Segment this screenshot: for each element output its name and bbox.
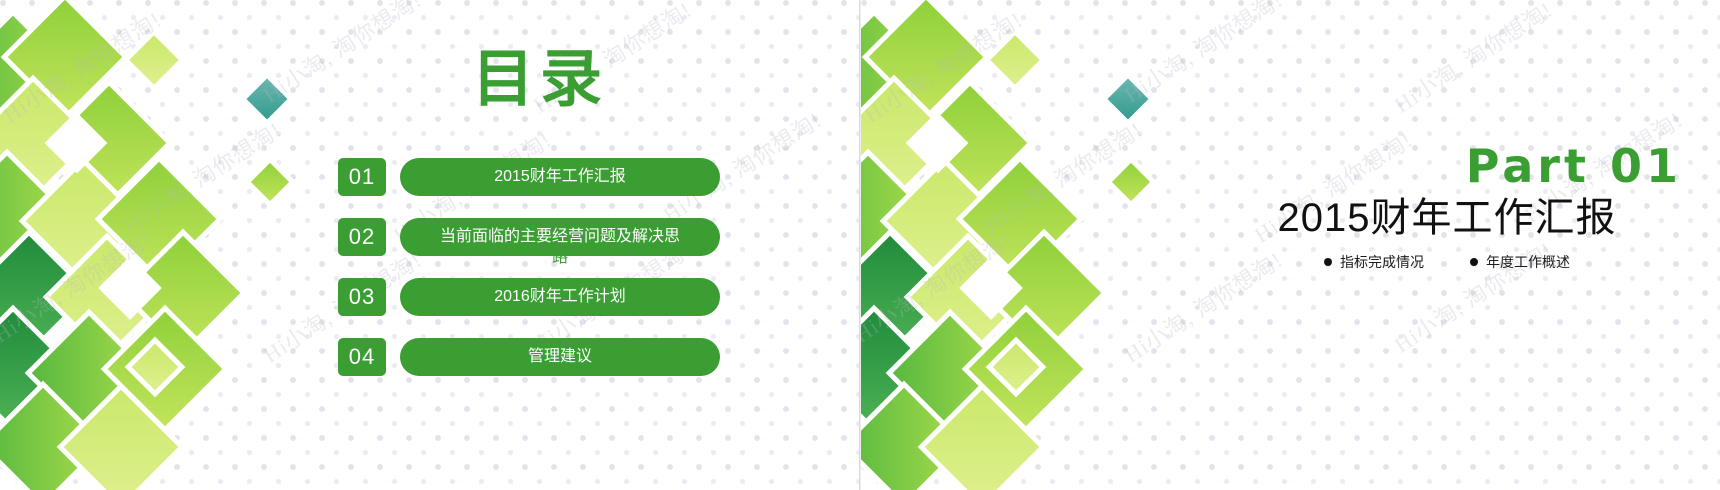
- toc-item-bar[interactable]: 2015财年工作汇报: [400, 158, 720, 196]
- section-bullet-list: 指标完成情况 年度工作概述: [1212, 252, 1682, 272]
- bullet-label: 指标完成情况: [1340, 252, 1424, 272]
- page-title: 目录: [330, 48, 750, 110]
- toc-item-bar[interactable]: 当前面临的主要经营问题及解决思 路: [400, 218, 720, 256]
- toc-item-bar[interactable]: 2016财年工作计划: [400, 278, 720, 316]
- toc-item-label: 管理建议: [408, 346, 712, 367]
- toc-item-number: 01: [338, 158, 386, 196]
- list-item[interactable]: 04 管理建议: [338, 338, 720, 398]
- toc-item-label: 2015财年工作汇报: [408, 166, 712, 187]
- slide-table-of-contents[interactable]: Hi小淘, 淘你想淘! Hi小淘, 淘你想淘! Hi小淘, 淘你想淘! Hi小淘…: [0, 0, 860, 490]
- slide-section-divider[interactable]: Hi小淘, 淘你想淘! Hi小淘, 淘你想淘! Hi小淘, 淘你想淘! Hi小淘…: [860, 0, 1720, 490]
- section-divider-content: Part 01 2015财年工作汇报 指标完成情况 年度工作概述: [1212, 142, 1682, 272]
- slide-deck-preview: Hi小淘, 淘你想淘! Hi小淘, 淘你想淘! Hi小淘, 淘你想淘! Hi小淘…: [0, 0, 1720, 490]
- toc-item-number: 02: [338, 218, 386, 256]
- toc-item-label: 2016财年工作计划: [408, 286, 712, 307]
- section-heading: 2015财年工作汇报: [1212, 196, 1682, 240]
- list-item: 年度工作概述: [1470, 252, 1570, 272]
- green-diamond-mosaic-decoration: [0, 0, 330, 490]
- watermark-text: Hi小淘, 淘你想淘!: [1387, 0, 1558, 119]
- toc-item-number: 04: [338, 338, 386, 376]
- list-item[interactable]: 02 当前面临的主要经营问题及解决思 路: [338, 218, 720, 278]
- list-item: 指标完成情况: [1324, 252, 1424, 272]
- bullet-dot-icon: [1324, 258, 1332, 266]
- toc-item-label-overflow: 路: [408, 247, 712, 268]
- green-diamond-mosaic-decoration: [861, 0, 1191, 490]
- toc-list: 01 2015财年工作汇报 02 当前面临的主要经营问题及解决思 路 03 20…: [338, 158, 720, 398]
- list-item[interactable]: 03 2016财年工作计划: [338, 278, 720, 338]
- part-label: Part 01: [1212, 142, 1682, 190]
- bullet-label: 年度工作概述: [1486, 252, 1570, 272]
- toc-item-label: 当前面临的主要经营问题及解决思: [408, 226, 712, 247]
- list-item[interactable]: 01 2015财年工作汇报: [338, 158, 720, 218]
- toc-item-number: 03: [338, 278, 386, 316]
- bullet-dot-icon: [1470, 258, 1478, 266]
- toc-item-bar[interactable]: 管理建议: [400, 338, 720, 376]
